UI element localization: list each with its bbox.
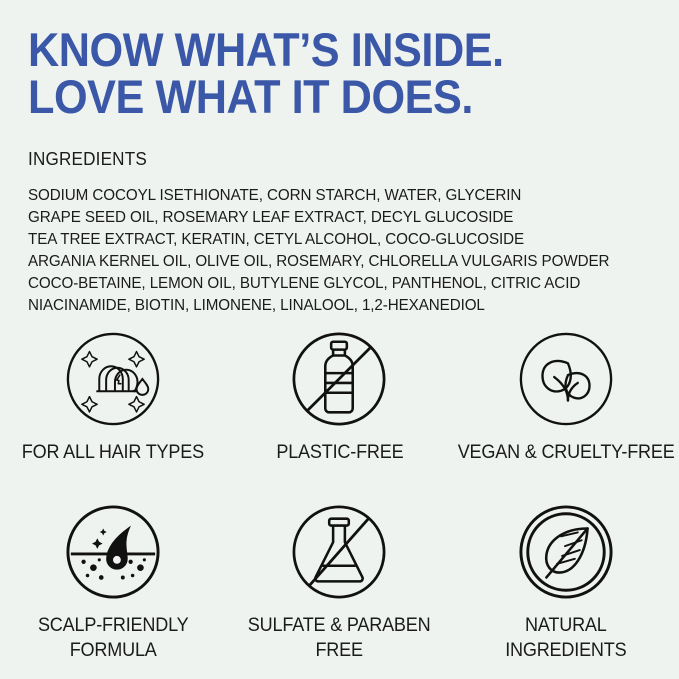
headline-line-2: LOVE WHAT IT DOES. bbox=[28, 73, 504, 120]
badge-row-bottom: SCALP-FRIENDLY FORMULA bbox=[0, 503, 679, 663]
badge-caption-line-1: SCALP-FRIENDLY bbox=[38, 613, 188, 638]
ingredients-line: GRAPE SEED OIL, ROSEMARY LEAF EXTRACT, D… bbox=[28, 207, 609, 229]
badge-plastic-free: PLASTIC-FREE bbox=[226, 330, 452, 465]
badge-natural-ingredients: NATURAL INGREDIENTS bbox=[453, 503, 679, 663]
badge-caption-line-1: PLASTIC-FREE bbox=[276, 440, 403, 465]
hair-follicle-scalp-icon bbox=[64, 503, 162, 601]
badge-caption-line-2: FREE bbox=[248, 638, 431, 663]
two-leaves-icon bbox=[517, 330, 615, 428]
badge-caption-line-2: INGREDIENTS bbox=[505, 638, 626, 663]
ingredients-line: SODIUM COCOYL ISETHIONATE, CORN STARCH, … bbox=[28, 185, 609, 207]
badge-caption-line-1: NATURAL bbox=[505, 613, 626, 638]
badge-caption-line-1: VEGAN & CRUELTY-FREE bbox=[457, 440, 674, 465]
ingredients-line: COCO-BETAINE, LEMON OIL, BUTYLENE GLYCOL… bbox=[28, 273, 609, 295]
badge-row-top: FOR ALL HAIR TYPES bbox=[0, 330, 679, 465]
ingredients-line: ARGANIA KERNEL OIL, OLIVE OIL, ROSEMARY,… bbox=[28, 251, 609, 273]
badge-caption: SULFATE & PARABEN FREE bbox=[248, 613, 431, 663]
badge-caption: FOR ALL HAIR TYPES bbox=[22, 440, 204, 465]
badge-caption: SCALP-FRIENDLY FORMULA bbox=[38, 613, 188, 663]
badge-caption: VEGAN & CRUELTY-FREE bbox=[457, 440, 674, 465]
ingredients-line: TEA TREE EXTRACT, KERATIN, CETYL ALCOHOL… bbox=[28, 229, 609, 251]
no-flask-icon bbox=[290, 503, 388, 601]
headline-line-1: KNOW WHAT’S INSIDE. bbox=[28, 26, 504, 73]
leaf-in-circle-icon bbox=[517, 503, 615, 601]
badge-caption: NATURAL INGREDIENTS bbox=[505, 613, 626, 663]
ingredients-line: NIACINAMIDE, BIOTIN, LIMONENE, LINALOOL,… bbox=[28, 295, 609, 317]
badge-caption-line-2: FORMULA bbox=[38, 638, 188, 663]
badge-vegan-cruelty-free: VEGAN & CRUELTY-FREE bbox=[453, 330, 679, 465]
ingredients-heading: INGREDIENTS bbox=[28, 148, 147, 170]
ingredients-list: SODIUM COCOYL ISETHIONATE, CORN STARCH, … bbox=[28, 185, 609, 317]
no-plastic-bottle-icon bbox=[290, 330, 388, 428]
feature-badge-grid: FOR ALL HAIR TYPES bbox=[0, 330, 679, 663]
badge-scalp-friendly-formula: SCALP-FRIENDLY FORMULA bbox=[0, 503, 226, 663]
badge-sulfate-paraben-free: SULFATE & PARABEN FREE bbox=[226, 503, 452, 663]
badge-caption-line-1: FOR ALL HAIR TYPES bbox=[22, 440, 204, 465]
badge-caption: PLASTIC-FREE bbox=[276, 440, 403, 465]
product-ingredients-infographic: KNOW WHAT’S INSIDE. LOVE WHAT IT DOES. I… bbox=[0, 0, 679, 679]
badge-caption-line-1: SULFATE & PARABEN bbox=[248, 613, 431, 638]
page-title: KNOW WHAT’S INSIDE. LOVE WHAT IT DOES. bbox=[28, 26, 504, 120]
hair-types-icon bbox=[64, 330, 162, 428]
badge-for-all-hair-types: FOR ALL HAIR TYPES bbox=[0, 330, 226, 465]
